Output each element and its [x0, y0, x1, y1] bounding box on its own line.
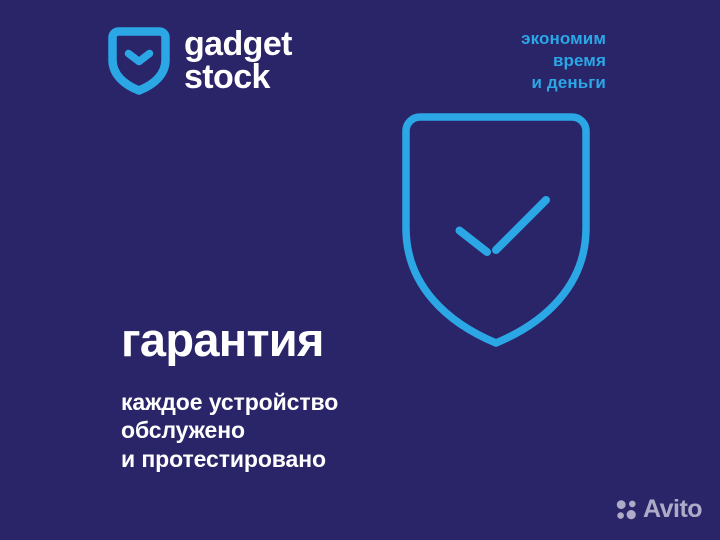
tagline-line-2: время [521, 50, 606, 72]
promo-banner: gadget stock экономим время и деньги гар… [0, 0, 720, 540]
avito-dots-icon [616, 499, 638, 521]
avito-watermark: Avito [616, 497, 702, 522]
subcopy-line-1: каждое устройство [121, 388, 338, 416]
subcopy-block: каждое устройство обслужено и протестиро… [121, 388, 338, 473]
brand-name-line-2: stock [184, 61, 292, 94]
brand-logo-lockup[interactable]: gadget stock [108, 24, 292, 96]
brand-name-line-1: gadget [184, 28, 292, 61]
avito-wordmark: Avito [643, 497, 702, 522]
tagline-line-1: экономим [521, 28, 606, 50]
tagline-block: экономим время и деньги [521, 28, 606, 93]
subcopy-line-2: обслужено [121, 416, 338, 444]
page-title: гарантия [121, 316, 324, 363]
subcopy-line-3: и протестировано [121, 445, 338, 473]
brand-wordmark: gadget stock [184, 26, 292, 95]
gadget-stock-shield-logo-icon [108, 24, 170, 96]
tagline-line-3: и деньги [521, 72, 606, 94]
shield-with-checkmark-icon [392, 104, 600, 352]
